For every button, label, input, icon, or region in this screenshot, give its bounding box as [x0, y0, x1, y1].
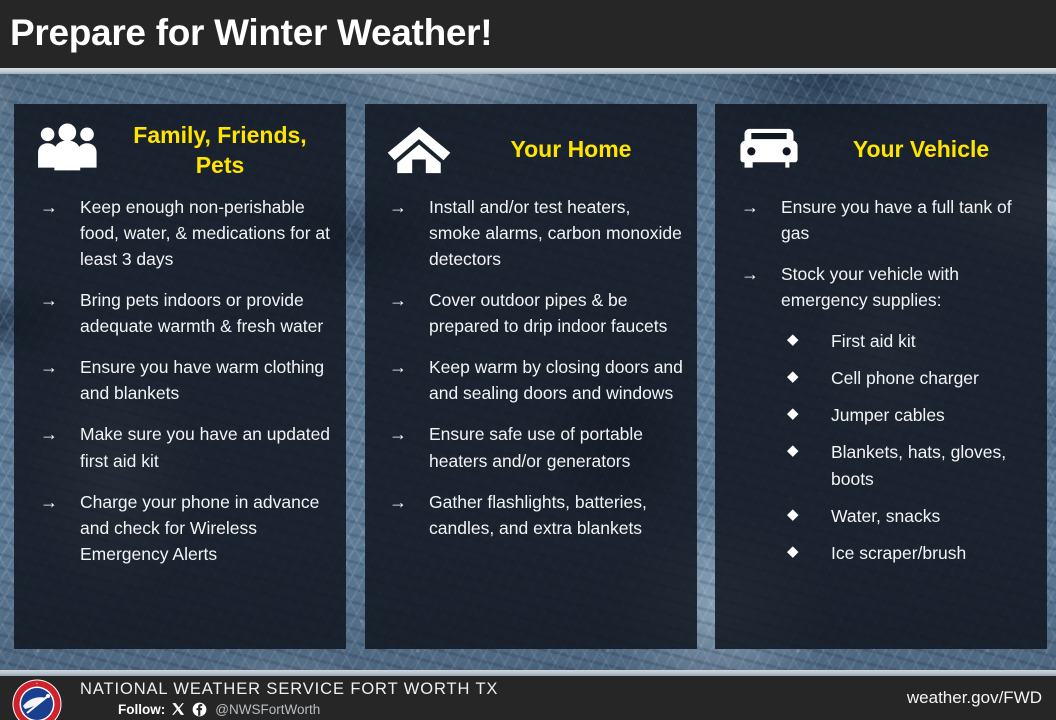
agency-name: NATIONAL WEATHER SERVICE FORT WORTH TX: [80, 680, 498, 699]
panel-1: Family, Friends, Pets→Keep enough non-pe…: [14, 104, 346, 649]
list-item: →Keep warm by closing doors and and seal…: [377, 354, 685, 406]
panel-header: Your Vehicle: [727, 118, 1035, 184]
panel-3: Your Vehicle→Ensure you have a full tank…: [715, 104, 1047, 649]
diamond-bullet-icon: ◆: [787, 504, 799, 526]
panel-title: Your Home: [457, 118, 685, 164]
list-item-text: Ensure safe use of portable heaters and/…: [429, 424, 643, 470]
footer-bar: • NATIONAL WEATHER SERVICE FORT WORTH TX…: [0, 676, 1056, 720]
list-item-text: Cover outdoor pipes & be prepared to dri…: [429, 290, 667, 336]
list-item: →Keep enough non-perishable food, water,…: [26, 194, 334, 272]
list-item: →Ensure you have warm clothing and blank…: [26, 354, 334, 406]
list-item: →Ensure safe use of portable heaters and…: [377, 421, 685, 473]
panels-container: Family, Friends, Pets→Keep enough non-pe…: [0, 74, 1056, 652]
list-item-text: Ensure you have a full tank of gas: [781, 197, 1012, 243]
arrow-bullet-icon: →: [389, 287, 407, 314]
sub-list-item: ◆First aid kit: [727, 328, 1035, 354]
diamond-bullet-icon: ◆: [787, 440, 799, 462]
list-item: →Ensure you have a full tank of gas: [727, 194, 1035, 246]
list-item-text: First aid kit: [831, 331, 916, 351]
list-item-text: Cell phone charger: [831, 368, 979, 388]
car-icon: [735, 122, 803, 178]
follow-row: Follow: @NWSFortWorth: [118, 702, 320, 717]
list-item: →Bring pets indoors or provide adequate …: [26, 287, 334, 339]
list-item-text: Ensure you have warm clothing and blanke…: [80, 357, 324, 403]
diamond-bullet-icon: ◆: [787, 403, 799, 425]
facebook-icon[interactable]: [192, 702, 207, 717]
list-item-text: Jumper cables: [831, 405, 945, 425]
family-group-icon: [34, 122, 102, 178]
sub-list-item: ◆Cell phone charger: [727, 365, 1035, 391]
arrow-bullet-icon: →: [389, 194, 407, 221]
sub-list-item: ◆Water, snacks: [727, 503, 1035, 529]
arrow-bullet-icon: →: [40, 421, 58, 448]
arrow-bullet-icon: →: [741, 261, 759, 288]
tip-list: →Install and/or test heaters, smoke alar…: [377, 194, 685, 541]
diamond-bullet-icon: ◆: [787, 329, 799, 351]
list-item: →Gather flashlights, batteries, candles,…: [377, 489, 685, 541]
panel-title: Family, Friends, Pets: [106, 118, 334, 181]
list-item: →Stock your vehicle with emergency suppl…: [727, 261, 1035, 313]
nws-seal-icon: •: [12, 679, 62, 720]
header-divider: [0, 68, 1056, 74]
list-item-text: Install and/or test heaters, smoke alarm…: [429, 197, 682, 269]
arrow-bullet-icon: →: [40, 287, 58, 314]
header-bar: Prepare for Winter Weather!: [0, 0, 1056, 68]
list-item-text: Charge your phone in advance and check f…: [80, 492, 319, 564]
list-item-text: Water, snacks: [831, 506, 940, 526]
follow-label: Follow:: [118, 702, 165, 717]
list-item-text: Make sure you have an updated first aid …: [80, 424, 330, 470]
arrow-bullet-icon: →: [389, 421, 407, 448]
page-title: Prepare for Winter Weather!: [10, 12, 492, 54]
winter-weather-infographic: Prepare for Winter Weather! Family, Frie…: [0, 0, 1056, 720]
panel-2: Your Home→Install and/or test heaters, s…: [365, 104, 697, 649]
list-item-text: Keep warm by closing doors and and seali…: [429, 357, 683, 403]
sub-list-item: ◆Ice scraper/brush: [727, 540, 1035, 566]
list-item: →Make sure you have an updated first aid…: [26, 421, 334, 473]
list-item: →Install and/or test heaters, smoke alar…: [377, 194, 685, 272]
arrow-bullet-icon: →: [389, 354, 407, 381]
tip-list: →Keep enough non-perishable food, water,…: [26, 194, 334, 567]
house-icon: [385, 122, 453, 178]
panel-header: Family, Friends, Pets: [26, 118, 334, 184]
arrow-bullet-icon: →: [40, 489, 58, 516]
sub-list-item: ◆Blankets, hats, gloves, boots: [727, 439, 1035, 491]
arrow-bullet-icon: →: [389, 489, 407, 516]
tip-list: →Ensure you have a full tank of gas→Stoc…: [727, 194, 1035, 566]
x-twitter-icon[interactable]: [171, 702, 186, 717]
sub-list-item: ◆Jumper cables: [727, 402, 1035, 428]
list-item-text: Blankets, hats, gloves, boots: [831, 442, 1006, 488]
list-item-text: Keep enough non-perishable food, water, …: [80, 197, 330, 269]
arrow-bullet-icon: →: [741, 194, 759, 221]
diamond-bullet-icon: ◆: [787, 366, 799, 388]
list-item-text: Ice scraper/brush: [831, 543, 966, 563]
social-handle[interactable]: @NWSFortWorth: [215, 702, 320, 717]
diamond-bullet-icon: ◆: [787, 541, 799, 563]
website-url[interactable]: weather.gov/FWD: [907, 688, 1042, 708]
list-item-text: Gather flashlights, batteries, candles, …: [429, 492, 647, 538]
panel-title: Your Vehicle: [807, 118, 1035, 164]
list-item: →Cover outdoor pipes & be prepared to dr…: [377, 287, 685, 339]
list-item-text: Bring pets indoors or provide adequate w…: [80, 290, 323, 336]
panel-header: Your Home: [377, 118, 685, 184]
arrow-bullet-icon: →: [40, 354, 58, 381]
list-item-text: Stock your vehicle with emergency suppli…: [781, 264, 959, 310]
arrow-bullet-icon: →: [40, 194, 58, 221]
list-item: →Charge your phone in advance and check …: [26, 489, 334, 567]
